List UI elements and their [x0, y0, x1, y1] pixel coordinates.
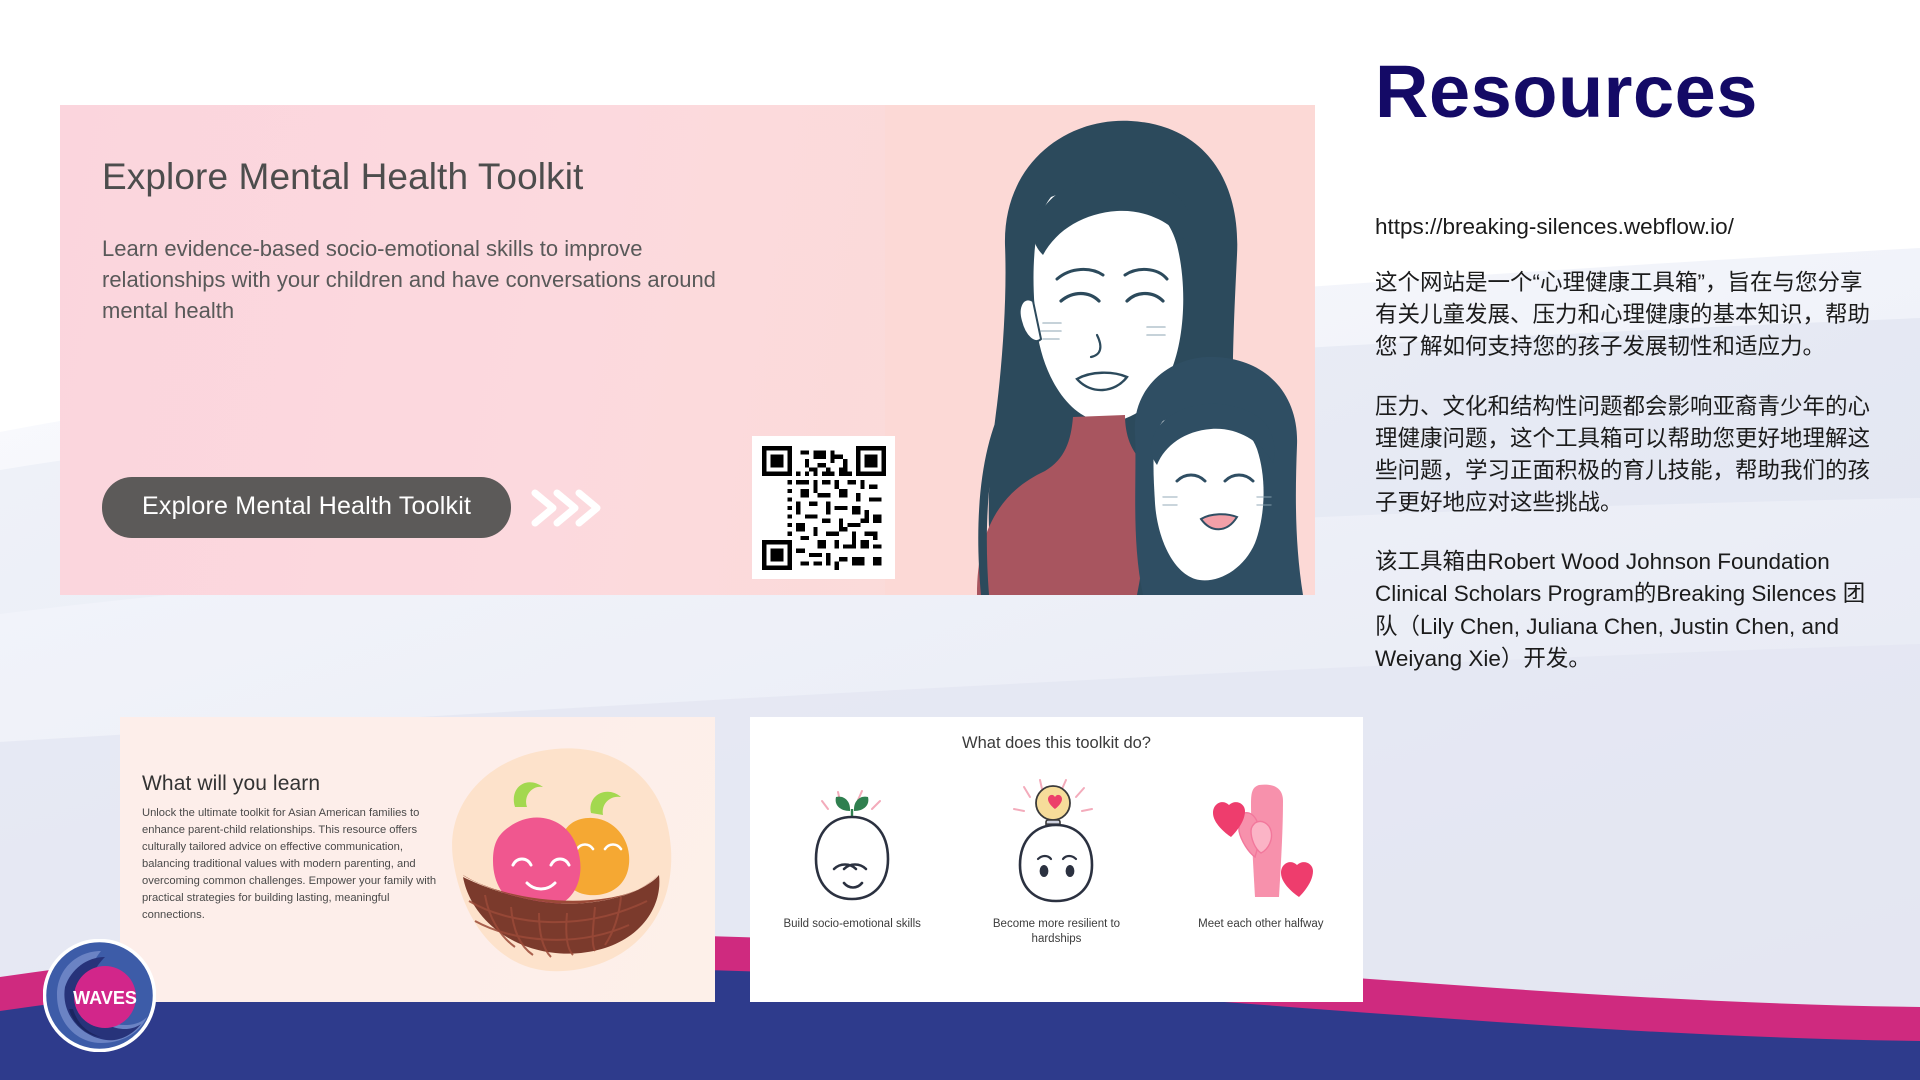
hero-subtitle: Learn evidence-based socio-emotional ski… — [102, 233, 722, 327]
sprout-head-icon — [796, 769, 908, 909]
resources-paragraph-3: 该工具箱由Robert Wood Johnson Foundation Clin… — [1375, 546, 1870, 675]
bottom-cards-row: What will you learn Unlock the ultimate … — [120, 717, 1375, 1002]
slide-root: Explore Mental Health Toolkit Learn evid… — [0, 0, 1920, 1080]
lightbulb-heart-head-icon — [1000, 769, 1112, 909]
toolkit-item: Build socio-emotional skills — [750, 769, 954, 947]
resources-column: Resources https://breaking-silences.webf… — [1375, 55, 1870, 675]
explore-toolkit-button[interactable]: Explore Mental Health Toolkit — [102, 477, 511, 538]
waves-logo-text: WAVES — [73, 988, 137, 1008]
hero-text-block: Explore Mental Health Toolkit Learn evid… — [102, 157, 722, 326]
page-title: Resources — [1375, 55, 1870, 129]
learn-text-block: What will you learn Unlock the ultimate … — [142, 772, 442, 924]
toolkit-item-label: Become more resilient to hardships — [981, 917, 1131, 947]
chevron-right-triple-icon — [531, 487, 603, 529]
resources-paragraph-1: 这个网站是一个“心理健康工具箱”，旨在与您分享有关儿童发展、压力和心理健康的基本… — [1375, 267, 1870, 364]
left-content-column: Explore Mental Health Toolkit Learn evid… — [60, 105, 1315, 595]
learn-card-title: What will you learn — [142, 772, 442, 796]
hero-cta-row: Explore Mental Health Toolkit — [102, 477, 603, 538]
holding-hands-hearts-icon — [1205, 769, 1317, 909]
toolkit-item: Meet each other halfway — [1159, 769, 1363, 947]
learn-card-body: Unlock the ultimate toolkit for Asian Am… — [142, 805, 442, 924]
resources-paragraph-2: 压力、文化和结构性问题都会影响亚裔青少年的心理健康问题，这个工具箱可以帮助您更好… — [1375, 391, 1870, 520]
hero-banner: Explore Mental Health Toolkit Learn evid… — [60, 105, 1315, 595]
toolkit-items: Build socio-emotional skills — [750, 769, 1363, 947]
mother-daughter-illustration — [885, 105, 1315, 595]
what-will-you-learn-card: What will you learn Unlock the ultimate … — [120, 717, 715, 1002]
toolkit-url[interactable]: https://breaking-silences.webflow.io/ — [1375, 214, 1870, 240]
fruit-basket-illustration — [405, 717, 705, 1002]
toolkit-item: Become more resilient to hardships — [954, 769, 1158, 947]
hero-title: Explore Mental Health Toolkit — [102, 157, 722, 198]
toolkit-item-label: Meet each other halfway — [1198, 917, 1323, 932]
waves-logo: WAVES — [43, 939, 156, 1052]
toolkit-item-label: Build socio-emotional skills — [783, 917, 920, 932]
qr-code[interactable] — [752, 436, 895, 579]
what-does-toolkit-do-card: What does this toolkit do? — [750, 717, 1363, 1002]
toolkit-card-title: What does this toolkit do? — [750, 734, 1363, 753]
